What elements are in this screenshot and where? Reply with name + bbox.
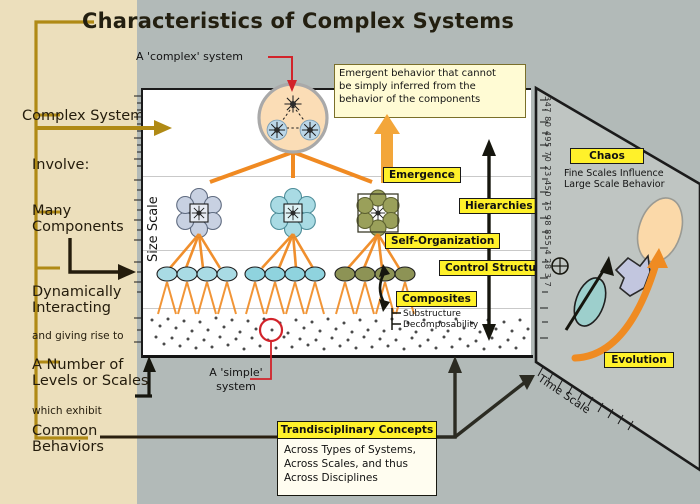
time-scale-ruler-numbers: 347 80 495 70 23 450 75 98 855 4 28 3 7	[543, 96, 552, 287]
right-tilted-panel	[0, 0, 700, 504]
tag-evolution[interactable]: Evolution	[604, 352, 674, 368]
chaos-note: Fine Scales Influence Large Scale Behavi…	[564, 168, 665, 190]
diagram-canvas: Characteristics of Complex Systems Compl…	[0, 0, 700, 504]
tag-chaos[interactable]: Chaos	[570, 148, 644, 164]
